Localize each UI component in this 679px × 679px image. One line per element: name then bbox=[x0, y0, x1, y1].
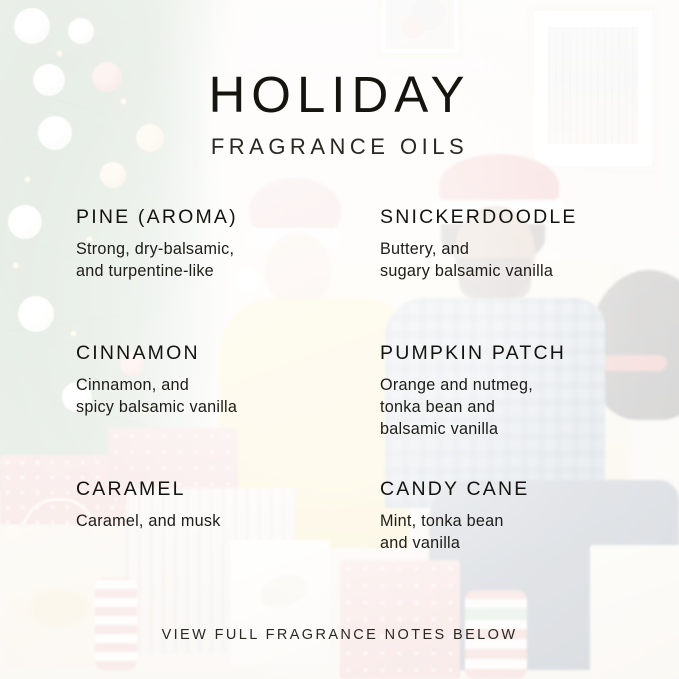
fragrance-name: SNICKERDOODLE bbox=[380, 208, 679, 228]
fragrance-item: CINNAMON Cinnamon, andspicy balsamic van… bbox=[76, 344, 376, 418]
fragrance-item: PINE (AROMA) Strong, dry-balsamic,and tu… bbox=[76, 208, 376, 282]
fragrance-name: CARAMEL bbox=[76, 480, 376, 500]
fragrance-description: Cinnamon, andspicy balsamic vanilla bbox=[76, 374, 376, 418]
fragrance-description: Strong, dry-balsamic,and turpentine-like bbox=[76, 238, 376, 282]
fragrance-description: Buttery, andsugary balsamic vanilla bbox=[380, 238, 679, 282]
fragrance-item: CARAMEL Caramel, and musk bbox=[76, 480, 376, 532]
poster-content: HOLIDAY FRAGRANCE OILS PINE (AROMA) Stro… bbox=[0, 0, 679, 679]
fragrance-description: Caramel, and musk bbox=[76, 510, 376, 532]
fragrance-name: PINE (AROMA) bbox=[76, 208, 376, 228]
page-subtitle: FRAGRANCE OILS bbox=[0, 136, 679, 158]
fragrance-name: PUMPKIN PATCH bbox=[380, 344, 679, 364]
fragrance-name: CINNAMON bbox=[76, 344, 376, 364]
fragrance-item: SNICKERDOODLE Buttery, andsugary balsami… bbox=[380, 208, 679, 282]
holiday-fragrance-poster: HOLIDAY FRAGRANCE OILS PINE (AROMA) Stro… bbox=[0, 0, 679, 679]
page-title: HOLIDAY bbox=[0, 69, 679, 120]
fragrance-item: PUMPKIN PATCH Orange and nutmeg,tonka be… bbox=[380, 344, 679, 440]
fragrance-name: CANDY CANE bbox=[380, 480, 679, 500]
footer-note: VIEW FULL FRAGRANCE NOTES BELOW bbox=[0, 628, 679, 643]
fragrance-item: CANDY CANE Mint, tonka beanand vanilla bbox=[380, 480, 679, 554]
fragrance-description: Mint, tonka beanand vanilla bbox=[380, 510, 679, 554]
fragrance-description: Orange and nutmeg,tonka bean andbalsamic… bbox=[380, 374, 679, 440]
